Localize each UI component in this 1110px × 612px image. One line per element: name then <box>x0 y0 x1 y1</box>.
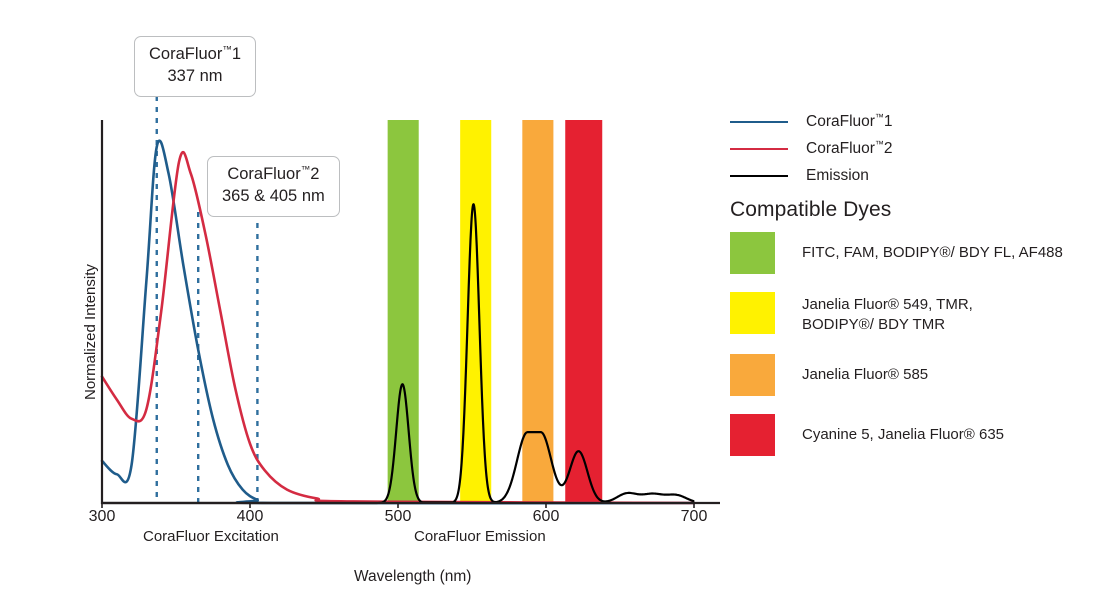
dye-row-red: Cyanine 5, Janelia Fluor® 635 <box>730 414 1110 456</box>
trademark-icon: ™ <box>875 111 884 121</box>
legend-line-swatch-corafluor1 <box>730 121 788 123</box>
x-tick-600: 600 <box>511 508 581 526</box>
dye-color-swatch-orange <box>730 354 775 396</box>
callout-corafluor2-line1: CoraFluor™2 <box>222 164 325 186</box>
dye-label-green-line1: FITC, FAM, BODIPY®/ BDY FL, AF488 <box>802 243 1063 263</box>
x-tick-500: 500 <box>363 508 433 526</box>
dye-band-group <box>388 120 603 503</box>
series-legend: CoraFluor™1 CoraFluor™2 Emission <box>730 108 893 189</box>
callout-corafluor2: CoraFluor™2 365 & 405 nm <box>207 156 340 217</box>
compatible-dyes-list: FITC, FAM, BODIPY®/ BDY FL, AF488 Janeli… <box>730 232 1110 474</box>
legend-item-corafluor1: CoraFluor™1 <box>730 108 893 135</box>
trademark-icon: ™ <box>875 138 884 148</box>
compatible-dyes-heading: Compatible Dyes <box>730 198 891 222</box>
dye-row-yellow: Janelia Fluor® 549, TMR, BODIPY®/ BDY TM… <box>730 292 1110 336</box>
axis-sublabel-excitation: CoraFluor Excitation <box>143 528 279 545</box>
callout-corafluor1-line2: 337 nm <box>149 66 241 88</box>
callout-corafluor1-line1: CoraFluor™1 <box>149 44 241 66</box>
plot-area: CoraFluor™1 337 nm CoraFluor™2 365 & 405… <box>0 0 730 612</box>
dye-label-red: Cyanine 5, Janelia Fluor® 635 <box>802 414 1004 445</box>
x-tick-700: 700 <box>659 508 729 526</box>
trademark-icon: ™ <box>222 45 232 56</box>
dye-label-yellow-line2: BODIPY®/ BDY TMR <box>802 315 973 335</box>
legend-label-emission: Emission <box>806 167 869 185</box>
x-tick-400: 400 <box>215 508 285 526</box>
dye-color-swatch-red <box>730 414 775 456</box>
dye-label-orange: Janelia Fluor® 585 <box>802 354 928 385</box>
callout-corafluor1: CoraFluor™1 337 nm <box>134 36 256 97</box>
dye-row-orange: Janelia Fluor® 585 <box>730 354 1110 396</box>
green-band <box>388 120 419 503</box>
dye-color-swatch-green <box>730 232 775 274</box>
legend-line-swatch-corafluor2 <box>730 148 788 150</box>
yellow-band <box>460 120 491 503</box>
callout-corafluor2-line2: 365 & 405 nm <box>222 186 325 208</box>
dye-label-yellow: Janelia Fluor® 549, TMR, BODIPY®/ BDY TM… <box>802 292 973 336</box>
red-band <box>565 120 602 503</box>
trademark-icon: ™ <box>301 165 311 176</box>
right-panel: CoraFluor™1 CoraFluor™2 Emission Compati… <box>730 0 1110 612</box>
dye-label-yellow-line1: Janelia Fluor® 549, TMR, <box>802 295 973 315</box>
x-tick-300: 300 <box>67 508 137 526</box>
legend-label-corafluor1: CoraFluor™1 <box>806 113 893 131</box>
y-axis-title: Normalized Intensity <box>82 264 99 400</box>
dye-label-green: FITC, FAM, BODIPY®/ BDY FL, AF488 <box>802 232 1063 263</box>
legend-item-emission: Emission <box>730 162 893 189</box>
x-axis-title: Wavelength (nm) <box>354 568 471 586</box>
dye-label-red-line1: Cyanine 5, Janelia Fluor® 635 <box>802 425 1004 445</box>
legend-item-corafluor2: CoraFluor™2 <box>730 135 893 162</box>
chart-page: CoraFluor™1 337 nm CoraFluor™2 365 & 405… <box>0 0 1110 612</box>
dye-row-green: FITC, FAM, BODIPY®/ BDY FL, AF488 <box>730 232 1110 274</box>
dye-label-orange-line1: Janelia Fluor® 585 <box>802 365 928 385</box>
dye-color-swatch-yellow <box>730 292 775 334</box>
legend-line-swatch-emission <box>730 175 788 177</box>
legend-label-corafluor2: CoraFluor™2 <box>806 140 893 158</box>
axis-sublabel-emission: CoraFluor Emission <box>414 528 546 545</box>
orange-band <box>522 120 553 503</box>
